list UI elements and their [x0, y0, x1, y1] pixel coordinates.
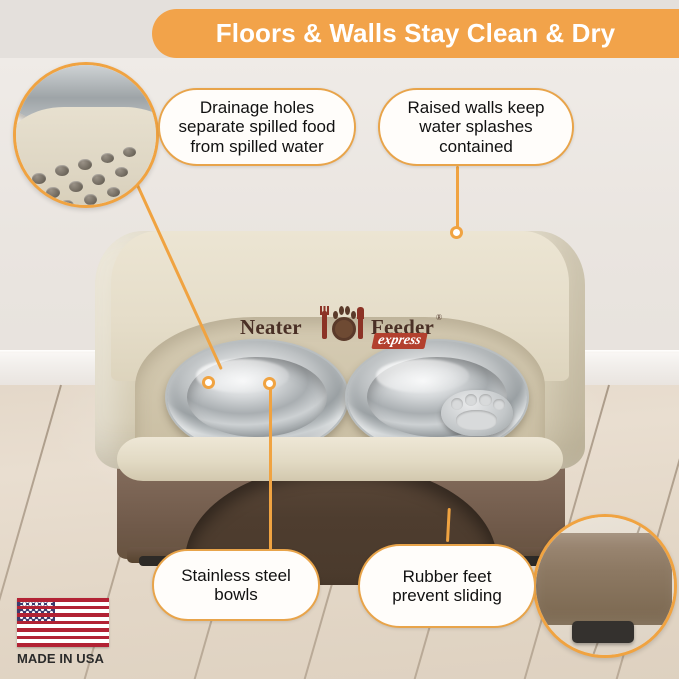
callout-text: Stainless steel bowls	[166, 566, 306, 605]
usa-flag-icon	[17, 598, 109, 647]
inset-base-leg	[533, 533, 672, 625]
bowl-highlight	[376, 359, 470, 393]
inset-drainage-holes	[13, 62, 159, 208]
flag-stripe	[17, 628, 109, 632]
leader-dot-drainage	[202, 376, 215, 389]
neater-feeder-product: Neater Feeder ® express	[95, 189, 585, 579]
leader-line-bowls	[269, 382, 272, 552]
flag-stripe	[17, 643, 109, 647]
registered-trademark-mark: ®	[436, 313, 442, 322]
flag-stripe	[17, 606, 109, 610]
made-in-usa-label: MADE IN USA	[17, 651, 109, 666]
logo-word-neater: Neater	[240, 315, 302, 340]
feeder-body: Neater Feeder ® express	[95, 231, 585, 469]
flag-stripe	[17, 598, 109, 602]
callout-text: Drainage holes separate spilled food fro…	[172, 98, 342, 156]
flag-stripe	[17, 621, 109, 625]
callout-raised-walls[interactable]: Raised walls keep water splashes contain…	[378, 88, 574, 166]
header-banner: Floors & Walls Stay Clean & Dry	[152, 9, 679, 58]
header-title: Floors & Walls Stay Clean & Dry	[216, 18, 615, 49]
callout-drainage-holes[interactable]: Drainage holes separate spilled food fro…	[158, 88, 356, 166]
callout-stainless-bowls[interactable]: Stainless steel bowls	[152, 549, 320, 621]
made-in-usa-badge: MADE IN USA	[17, 598, 109, 666]
fork-icon	[322, 311, 327, 339]
paw-print-weight-plate	[441, 390, 513, 436]
leader-line-walls	[456, 166, 459, 232]
flag-stripe	[17, 636, 109, 640]
flag-stripe	[17, 613, 109, 617]
inset-rubber-pad	[572, 621, 634, 643]
knife-icon	[358, 311, 363, 339]
callout-text: Rubber feet prevent sliding	[372, 567, 522, 606]
callout-rubber-feet[interactable]: Rubber feet prevent sliding	[358, 544, 536, 628]
leader-dot-walls	[450, 226, 463, 239]
logo-tagline-express: express	[371, 333, 427, 349]
paw-bowl-icon	[332, 305, 356, 341]
callout-text: Raised walls keep water splashes contain…	[392, 98, 560, 156]
inset-rubber-foot	[533, 514, 677, 658]
front-lip	[117, 437, 563, 481]
leader-dot-bowls	[263, 377, 276, 390]
inset-drainage-deck	[13, 107, 159, 208]
infographic-canvas: Neater Feeder ® express	[0, 0, 679, 679]
brand-logo: Neater Feeder ® express	[240, 303, 448, 349]
